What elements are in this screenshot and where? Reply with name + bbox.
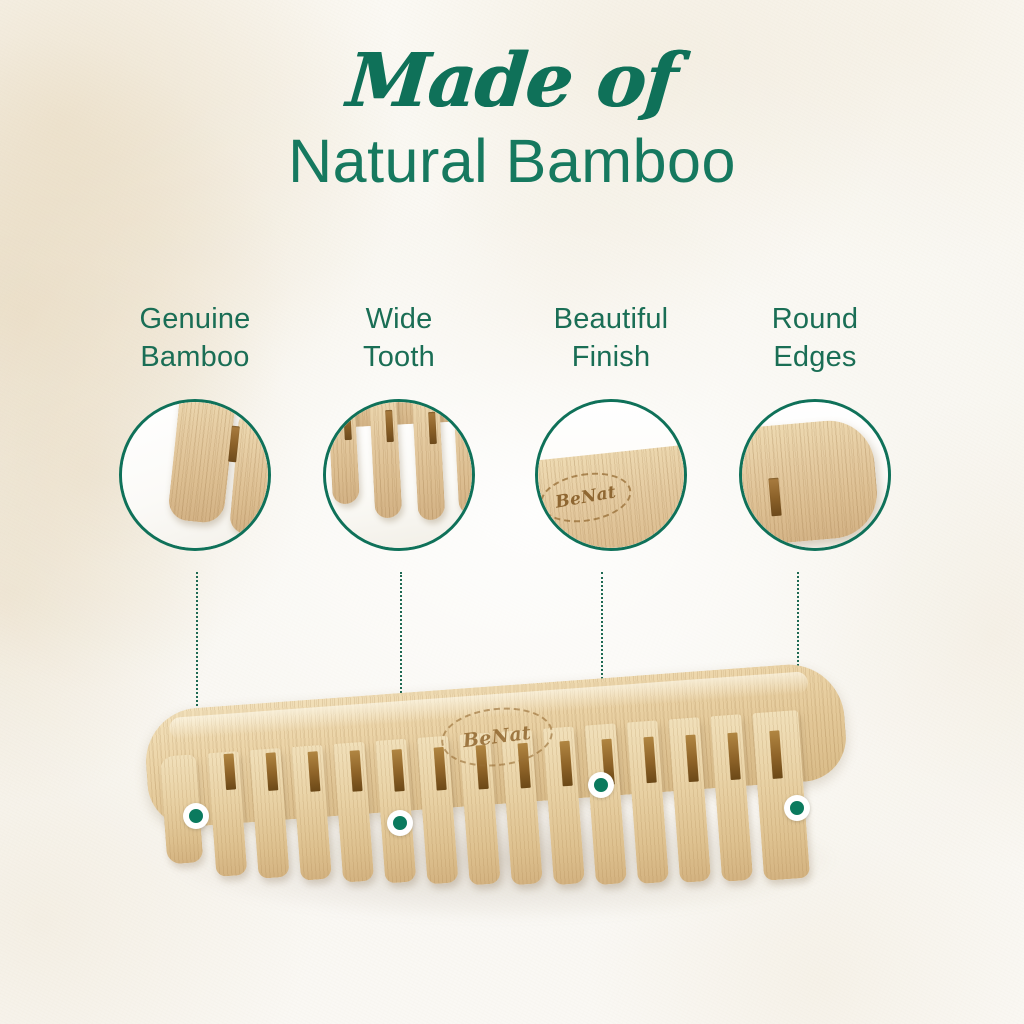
feature-circle-wrap-beautiful-finish: BeNat	[535, 399, 687, 551]
feature-callout-row: Genuine Bamboo Wide Tooth	[95, 300, 929, 590]
rounded-edge-closeup-icon	[739, 399, 891, 551]
headline-main-line: Natural Bamboo	[0, 131, 1024, 192]
infographic-canvas: Made of Natural Bamboo Genuine Bamboo Wi…	[0, 0, 1024, 1024]
feature-circle-wrap-round-edges	[739, 399, 891, 551]
feature-beautiful-finish: Beautiful Finish BeNat	[511, 300, 711, 551]
marker-dot-genuine-bamboo[interactable]	[183, 803, 209, 829]
feature-circle-wrap-wide-tooth	[323, 399, 475, 551]
headline-script-line: Made of	[0, 46, 1024, 117]
brand-engraving-text-closeup: BeNat	[538, 465, 635, 528]
marker-dot-wide-tooth[interactable]	[387, 810, 413, 836]
feature-circle-wrap-genuine-bamboo	[119, 399, 271, 551]
feature-label-wide-tooth: Wide Tooth	[299, 300, 499, 377]
bamboo-comb-product: BeNat	[142, 655, 858, 956]
bamboo-teeth-closeup-icon	[119, 399, 271, 551]
feature-genuine-bamboo: Genuine Bamboo	[95, 300, 295, 551]
feature-wide-tooth: Wide Tooth	[299, 300, 499, 551]
brand-engraving-closeup: BeNat	[538, 468, 634, 525]
marker-dot-beautiful-finish[interactable]	[588, 772, 614, 798]
brand-engraving-on-comb: BeNat	[439, 704, 555, 770]
wide-tooth-closeup-icon	[323, 399, 475, 551]
feature-round-edges: Round Edges	[715, 300, 915, 551]
feature-label-round-edges: Round Edges	[715, 300, 915, 377]
engraved-logo-closeup-icon: BeNat	[535, 399, 687, 551]
marker-dot-round-edges[interactable]	[784, 795, 810, 821]
feature-label-beautiful-finish: Beautiful Finish	[511, 300, 711, 377]
headline-block: Made of Natural Bamboo	[0, 46, 1024, 192]
product-photo-area: BeNat	[150, 680, 880, 980]
brand-engraving-text: BeNat	[438, 701, 556, 773]
feature-label-genuine-bamboo: Genuine Bamboo	[95, 300, 295, 377]
